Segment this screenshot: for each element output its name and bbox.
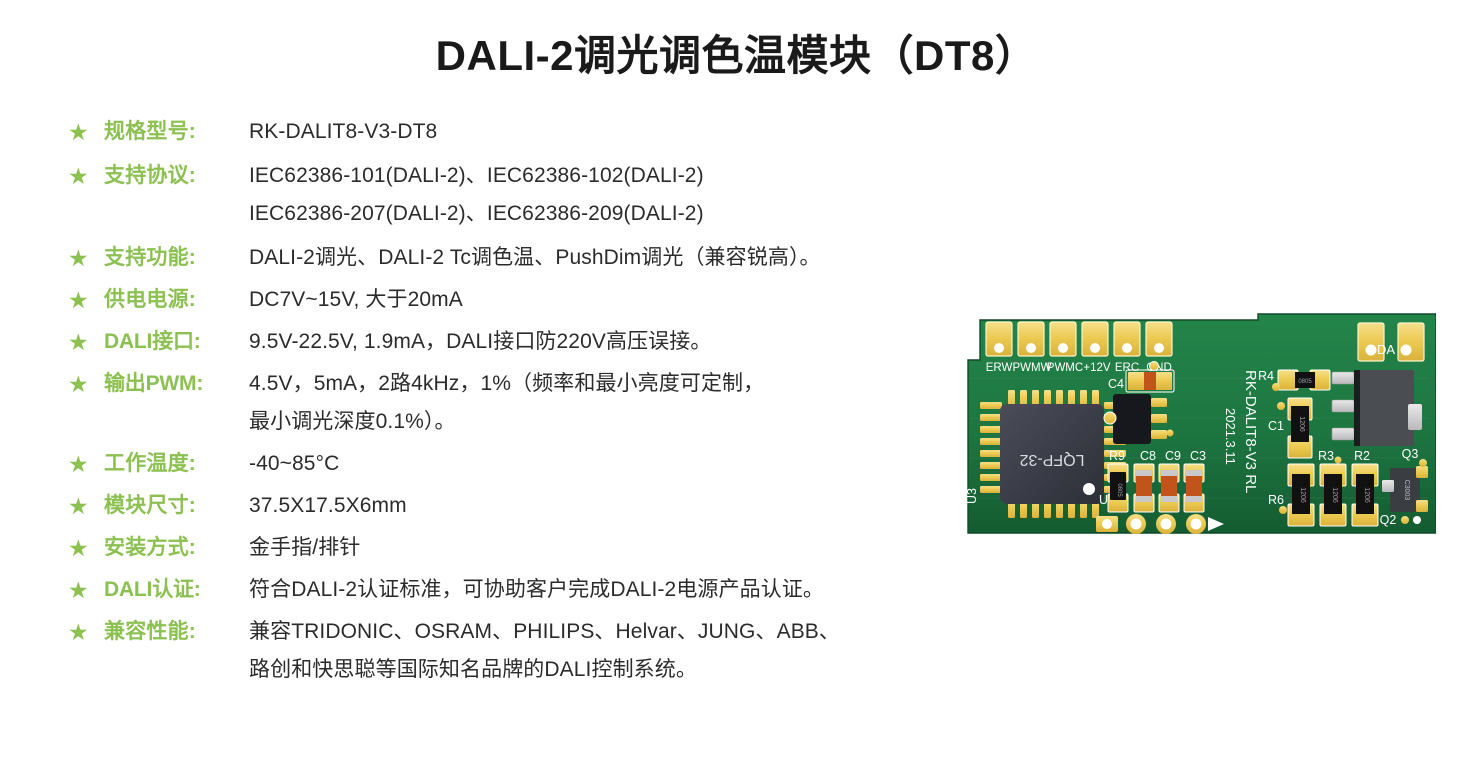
spec-value-function-line1: DALI-2调光、DALI-2 Tc调色温、PushDim调光（兼容锐高）。: [249, 239, 1028, 277]
designator-r4: R4: [1258, 369, 1274, 383]
spec-row-dali-interface: ★ DALI接口: 9.5V-22.5V, 1.9mA，DALI接口防220V高…: [68, 323, 1028, 361]
part-code-r6: 1206: [1299, 487, 1306, 503]
spec-row-certification: ★ DALI认证: 符合DALI-2认证标准，可协助客户完成DALI-2电源产品…: [68, 571, 1028, 609]
spec-value-pwm-output-line1: 4.5V，5mA，2路4kHz，1%（频率和最小亮度可定制，: [249, 365, 1028, 403]
star-icon: ★: [68, 445, 96, 483]
spec-value-temperature: -40~85°C: [249, 445, 1028, 483]
product-spec-page: DALI-2调光调色温模块（DT8） ★ 规格型号: RK-DALIT8-V3-…: [0, 0, 1473, 783]
spec-value-dali-interface: 9.5V-22.5V, 1.9mA，DALI接口防220V高压误接。: [249, 323, 1028, 361]
designator-q3: Q3: [1402, 447, 1419, 461]
spec-row-dimensions: ★ 模块尺寸: 37.5X17.5X6mm: [68, 487, 1028, 525]
spec-value-protocol: IEC62386-101(DALI-2)、IEC62386-102(DALI-2…: [249, 157, 1028, 233]
spec-row-power: ★ 供电电源: DC7V~15V, 大于20mA: [68, 281, 1028, 319]
star-icon: ★: [68, 529, 96, 567]
designator-r9: R9: [1109, 449, 1125, 463]
spec-value-certification: 符合DALI-2认证标准，可协助客户完成DALI-2电源产品认证。: [249, 571, 1028, 609]
part-code-r2: 1206: [1363, 487, 1370, 503]
star-icon: ★: [68, 323, 96, 361]
star-icon: ★: [68, 571, 96, 609]
pad-label-12v: +12V: [1083, 362, 1111, 374]
spec-value-power: DC7V~15V, 大于20mA: [249, 281, 1028, 319]
specification-list: ★ 规格型号: RK-DALIT8-V3-DT8 ★ 支持协议: IEC6238…: [68, 113, 1028, 689]
pad-pwmw: [1018, 322, 1044, 356]
spec-row-temperature: ★ 工作温度: -40~85°C: [68, 445, 1028, 483]
spec-value-model: RK-DALIT8-V3-DT8: [249, 113, 1028, 151]
designator-c9: C9: [1165, 449, 1181, 463]
spec-value-mounting: 金手指/排针: [249, 529, 1028, 567]
spec-label-power: 供电电源:: [104, 281, 249, 319]
spec-value-compatibility: 兼容TRIDONIC、OSRAM、PHILIPS、Helvar、JUNG、ABB…: [249, 613, 1028, 689]
silkscreen-part-number: RK-DALIT8-V3 RL: [1242, 370, 1259, 493]
spec-value-compatibility-line1: 兼容TRIDONIC、OSRAM、PHILIPS、Helvar、JUNG、ABB…: [249, 613, 1028, 651]
pcb-product-image: ERW PWMW PWMC +12V ERC GND DA: [958, 308, 1436, 540]
spec-row-compatibility: ★ 兼容性能: 兼容TRIDONIC、OSRAM、PHILIPS、Helvar、…: [68, 613, 1028, 689]
pad-label-da: DA: [1377, 342, 1395, 357]
designator-c8: C8: [1140, 449, 1156, 463]
spec-label-function: 支持功能:: [104, 239, 249, 277]
pad-12v: [1082, 322, 1108, 356]
star-icon: ★: [68, 157, 96, 195]
spec-value-dimensions-line1: 37.5X17.5X6mm: [249, 487, 1028, 525]
spec-row-protocol: ★ 支持协议: IEC62386-101(DALI-2)、IEC62386-10…: [68, 157, 1028, 233]
spec-value-certification-line1: 符合DALI-2认证标准，可协助客户完成DALI-2电源产品认证。: [249, 571, 1028, 609]
pad-label-erw: ERW: [986, 362, 1013, 374]
spec-value-dimensions: 37.5X17.5X6mm: [249, 487, 1028, 525]
star-icon: ★: [68, 239, 96, 277]
spec-value-function: DALI-2调光、DALI-2 Tc调色温、PushDim调光（兼容锐高）。: [249, 239, 1028, 277]
spec-value-compatibility-line2: 路创和快思聪等国际知名品牌的DALI控制系统。: [249, 651, 1028, 689]
designator-c3: C3: [1190, 449, 1206, 463]
chip-label-lqfp32: LQFP-32: [1019, 451, 1084, 468]
spec-label-model: 规格型号:: [104, 113, 249, 151]
spec-value-pwm-output-line2: 最小调光深度0.1%）。: [249, 403, 1028, 441]
pad-erw: [986, 322, 1012, 356]
spec-value-mounting-line1: 金手指/排针: [249, 529, 1028, 567]
silkscreen-date: 2021.3.11: [1223, 408, 1238, 465]
page-title: DALI-2调光调色温模块（DT8）: [0, 22, 1473, 83]
spec-row-pwm-output: ★ 输出PWM: 4.5V，5mA，2路4kHz，1%（频率和最小亮度可定制， …: [68, 365, 1028, 441]
pad-pwmc: [1050, 322, 1076, 356]
spec-label-compatibility: 兼容性能:: [104, 613, 249, 651]
designator-c4: C4: [1108, 377, 1124, 391]
star-icon: ★: [68, 487, 96, 525]
spec-label-dimensions: 模块尺寸:: [104, 487, 249, 525]
spec-label-temperature: 工作温度:: [104, 445, 249, 483]
spec-value-protocol-line2: IEC62386-207(DALI-2)、IEC62386-209(DALI-2…: [249, 195, 1028, 233]
spec-label-mounting: 安装方式:: [104, 529, 249, 567]
part-code-r9: 0805: [1116, 483, 1122, 497]
part-code-r4: 0805: [1298, 379, 1312, 385]
designator-r2: R2: [1354, 449, 1370, 463]
spec-value-pwm-output: 4.5V，5mA，2路4kHz，1%（频率和最小亮度可定制， 最小调光深度0.1…: [249, 365, 1028, 441]
star-icon: ★: [68, 281, 96, 319]
star-icon: ★: [68, 113, 96, 151]
spec-value-protocol-line1: IEC62386-101(DALI-2)、IEC62386-102(DALI-2…: [249, 157, 1028, 195]
spec-label-pwm-output: 输出PWM:: [104, 365, 249, 403]
designator-r3: R3: [1318, 449, 1334, 463]
spec-label-dali-interface: DALI接口:: [104, 323, 249, 361]
spec-row-function: ★ 支持功能: DALI-2调光、DALI-2 Tc调色温、PushDim调光（…: [68, 239, 1028, 277]
spec-row-mounting: ★ 安装方式: 金手指/排针: [68, 529, 1028, 567]
designator-r6: R6: [1268, 493, 1284, 507]
part-code-c1: 1206: [1298, 416, 1305, 432]
designator-c1: C1: [1268, 419, 1284, 433]
pad-erc: [1114, 322, 1140, 356]
star-icon: ★: [68, 613, 96, 651]
spec-label-certification: DALI认证:: [104, 571, 249, 609]
part-code-r3: 1206: [1331, 487, 1338, 503]
star-icon: ★: [68, 365, 96, 403]
spec-label-protocol: 支持协议:: [104, 157, 249, 195]
designator-q2: Q2: [1380, 513, 1397, 527]
spec-value-power-line1: DC7V~15V, 大于20mA: [249, 281, 1028, 319]
pad-label-pwmw: PWMW: [1013, 362, 1052, 374]
part-code-q2: C3003: [1403, 480, 1410, 501]
spec-value-temperature-line1: -40~85°C: [249, 445, 1028, 483]
pad-label-pwmc: PWMC: [1047, 362, 1083, 374]
spec-value-dali-interface-line1: 9.5V-22.5V, 1.9mA，DALI接口防220V高压误接。: [249, 323, 1028, 361]
pad-gnd: [1146, 322, 1172, 356]
spec-row-model: ★ 规格型号: RK-DALIT8-V3-DT8: [68, 113, 1028, 151]
spec-value-model-line1: RK-DALIT8-V3-DT8: [249, 113, 1028, 151]
designator-u3: U3: [965, 488, 979, 504]
